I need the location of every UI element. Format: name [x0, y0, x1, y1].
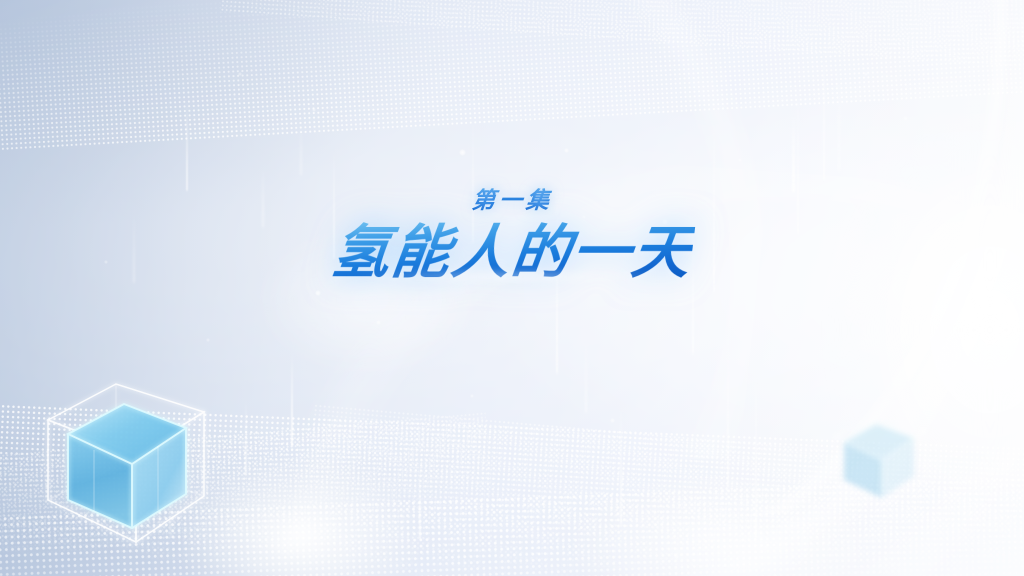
title-card-stage: 第一集 氢能人的一天 [0, 0, 1024, 576]
episode-label: 第一集 [470, 188, 554, 213]
background-vignette [0, 0, 1024, 576]
title-block: 第一集 氢能人的一天 [0, 188, 1024, 284]
page-title: 氢能人的一天 [328, 222, 696, 283]
